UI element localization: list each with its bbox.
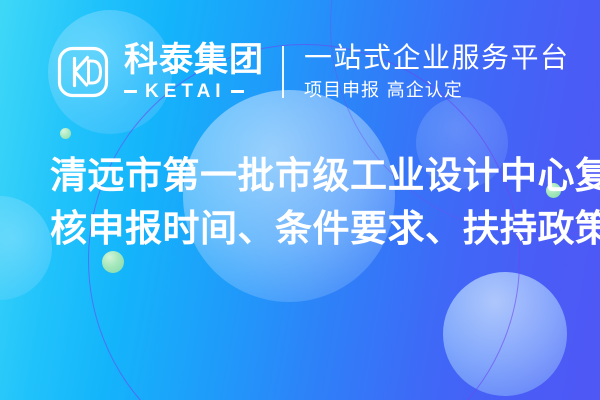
banner-header: 科泰集团 KETAI 一站式企业服务平台 项目申报 高企认定 [52,33,570,111]
ketai-monogram-icon [52,41,114,103]
decorative-dot-green-top [60,128,71,139]
headline-block: 清远市第一批市级工业设计中心复 核申报时间、条件要求、扶持政策 [50,150,562,255]
brand-name-en: KETAI [137,82,231,101]
brand-name-cn: 科泰集团 [124,43,264,77]
brand-name-en-row: KETAI [124,82,264,101]
decorative-circle-left [0,196,52,300]
wordmark-rule-right [231,90,244,93]
brand-wordmark: 科泰集团 KETAI [124,43,264,101]
tagline-primary: 一站式企业服务平台 [304,43,570,73]
headline-line-2: 核申报时间、条件要求、扶持政策 [50,203,562,256]
header-divider [282,46,284,98]
wordmark-rule-left [124,90,137,93]
tagline-block: 一站式企业服务平台 项目申报 高企认定 [304,43,570,100]
headline-line-1: 清远市第一批市级工业设计中心复 [50,150,562,203]
tagline-secondary: 项目申报 高企认定 [304,81,570,101]
promo-banner: 科泰集团 KETAI 一站式企业服务平台 项目申报 高企认定 清远市第一批市级工… [0,0,600,400]
decorative-circle-bottom-right [443,272,567,396]
